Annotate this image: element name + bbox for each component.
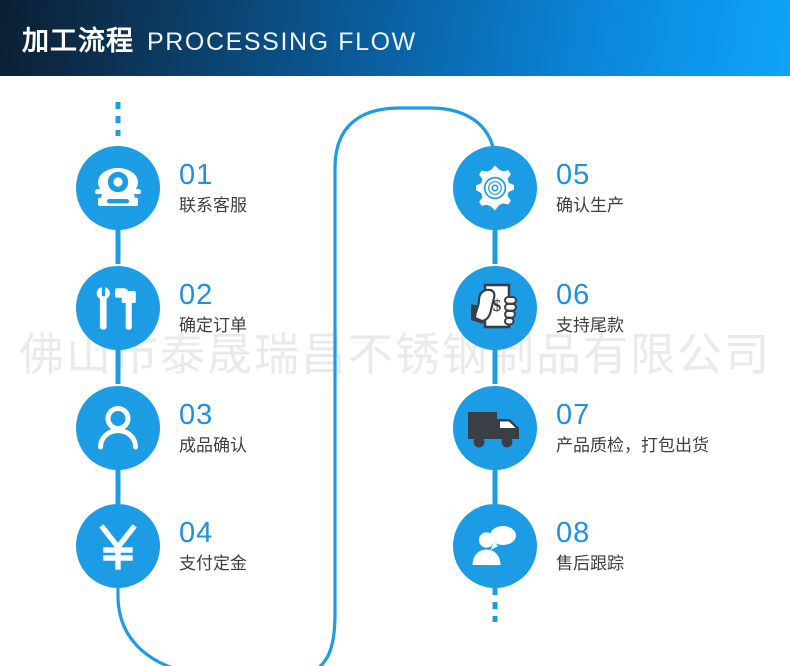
step-08-number: 08 <box>556 517 624 549</box>
step-05-text: 05 确认生产 <box>556 159 624 218</box>
step-08-label: 售后跟踪 <box>556 552 624 576</box>
person-icon <box>95 405 141 451</box>
yuan-currency-icon <box>95 522 141 570</box>
step-06-number: 06 <box>556 279 624 311</box>
step-01-label: 联系客服 <box>179 194 247 218</box>
step-08[interactable]: 08 售后跟踪 <box>453 504 624 588</box>
step-05-label: 确认生产 <box>556 194 624 218</box>
step-02-circle <box>76 266 160 350</box>
customer-support-icon <box>470 524 520 568</box>
step-01[interactable]: 01 联系客服 <box>76 146 247 230</box>
step-08-text: 08 售后跟踪 <box>556 517 624 576</box>
step-05[interactable]: 05 确认生产 <box>453 146 624 230</box>
step-06[interactable]: $ 06 支持尾款 <box>453 266 624 350</box>
page-title-chinese: 加工流程 <box>22 19 134 58</box>
step-01-circle <box>76 146 160 230</box>
telephone-icon <box>93 166 143 210</box>
step-07-text: 07 产品质检，打包出货 <box>556 399 709 458</box>
gear-icon <box>471 164 519 212</box>
step-04-number: 04 <box>179 517 247 549</box>
step-07-label: 产品质检，打包出货 <box>556 434 709 458</box>
header-title-group: 加工流程 PROCESSING FLOW <box>0 19 417 58</box>
processing-flow-page: 加工流程 PROCESSING FLOW 佛山市泰晟瑞昌不锈钢制品有限公司 <box>0 0 790 666</box>
step-02-number: 02 <box>179 279 247 311</box>
step-08-circle <box>453 504 537 588</box>
delivery-truck-icon <box>466 407 524 449</box>
step-06-text: 06 支持尾款 <box>556 279 624 338</box>
step-04-circle <box>76 504 160 588</box>
step-06-circle: $ <box>453 266 537 350</box>
step-03-label: 成品确认 <box>179 434 247 458</box>
page-title-english: PROCESSING FLOW <box>147 28 417 57</box>
wrench-hammer-icon <box>93 284 143 332</box>
step-03-circle <box>76 386 160 470</box>
step-04[interactable]: 04 支付定金 <box>76 504 247 588</box>
step-02-label: 确定订单 <box>179 314 247 338</box>
step-04-label: 支付定金 <box>179 552 247 576</box>
step-01-number: 01 <box>179 159 247 191</box>
step-04-text: 04 支付定金 <box>179 517 247 576</box>
page-header: 加工流程 PROCESSING FLOW <box>0 0 790 76</box>
step-03-text: 03 成品确认 <box>179 399 247 458</box>
bottom-curve-left-to-right <box>118 584 335 666</box>
step-07-circle <box>453 386 537 470</box>
step-06-label: 支持尾款 <box>556 314 624 338</box>
step-05-circle <box>453 146 537 230</box>
step-03[interactable]: 03 成品确认 <box>76 386 247 470</box>
step-01-text: 01 联系客服 <box>179 159 247 218</box>
step-07[interactable]: 07 产品质检，打包出货 <box>453 386 709 470</box>
step-07-number: 07 <box>556 399 709 431</box>
hand-holding-money-icon: $ <box>469 280 521 336</box>
step-02-text: 02 确定订单 <box>179 279 247 338</box>
step-02[interactable]: 02 确定订单 <box>76 266 247 350</box>
step-05-number: 05 <box>556 159 624 191</box>
step-03-number: 03 <box>179 399 247 431</box>
